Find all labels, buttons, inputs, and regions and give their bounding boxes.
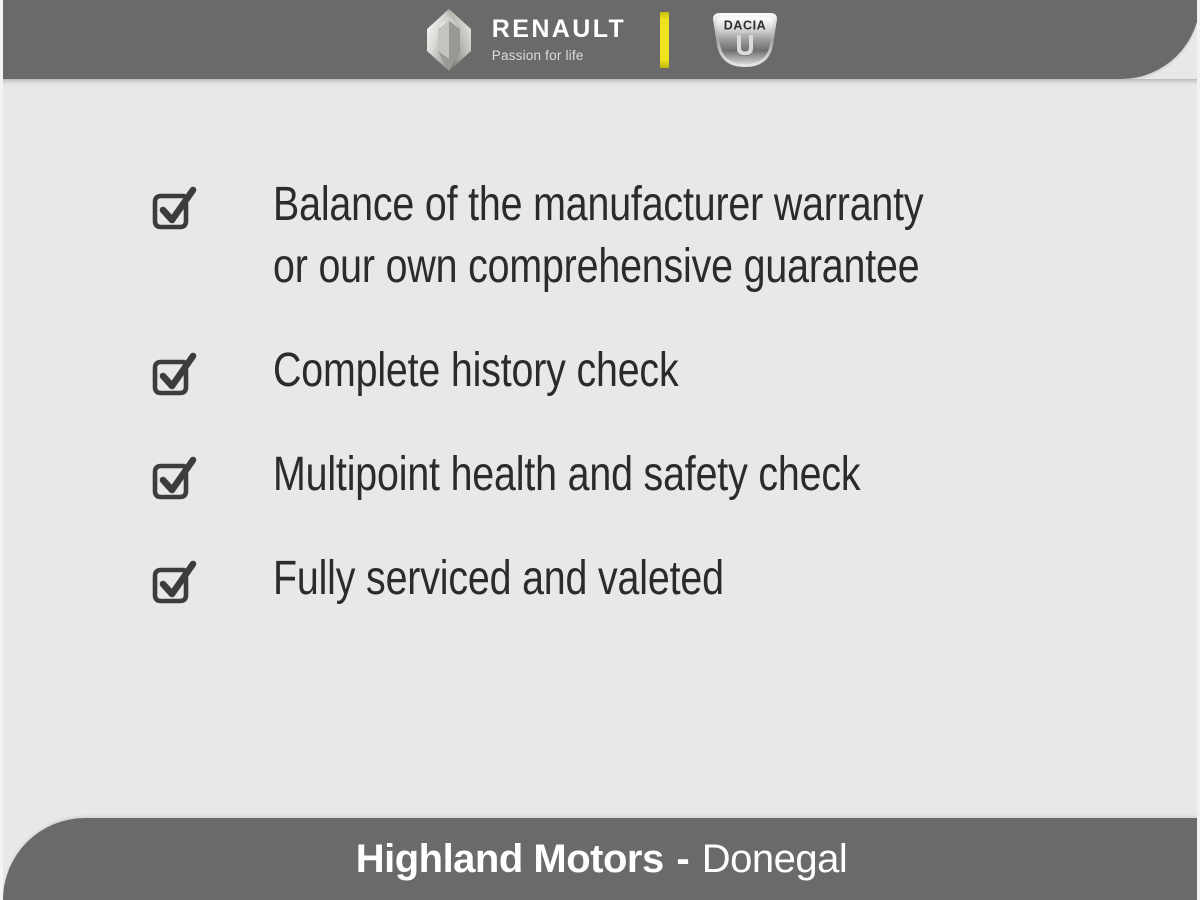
dealer-location: Donegal <box>702 837 848 881</box>
list-item: Multipoint health and safety check <box>3 444 1200 506</box>
header-underline <box>3 79 1200 86</box>
feature-list: Balance of the manufacturer warranty or … <box>3 86 1200 812</box>
dealer-name: Highland Motors <box>356 837 664 881</box>
promo-panel: RENAULT Passion for life <box>0 0 1200 900</box>
renault-brand-block: RENAULT Passion for life <box>420 7 626 73</box>
dacia-shield-icon: DACIA <box>707 9 783 71</box>
dacia-brand-block: DACIA <box>707 9 783 71</box>
list-item: Fully serviced and valeted <box>3 548 1200 610</box>
checked-checkbox-icon <box>148 452 200 504</box>
renault-diamond-icon <box>420 7 478 73</box>
renault-tagline: Passion for life <box>492 49 626 63</box>
dealer-footer-text: Highland Motors - Donegal <box>356 838 848 880</box>
checked-checkbox-icon <box>148 348 200 400</box>
list-item-label: Complete history check <box>273 340 678 402</box>
brand-header-content: RENAULT Passion for life <box>3 0 1200 79</box>
renault-wordmark: RENAULT Passion for life <box>492 17 626 63</box>
svg-text:DACIA: DACIA <box>724 18 767 32</box>
brand-header-bar: RENAULT Passion for life <box>3 0 1200 79</box>
renault-name: RENAULT <box>492 17 626 42</box>
list-item-label: Balance of the manufacturer warranty or … <box>273 174 923 298</box>
checked-checkbox-icon <box>148 182 200 234</box>
brand-divider <box>660 12 669 68</box>
dealer-separator: - <box>664 837 702 881</box>
list-item: Balance of the manufacturer warranty or … <box>3 174 1200 298</box>
list-item: Complete history check <box>3 340 1200 402</box>
checked-checkbox-icon <box>148 556 200 608</box>
list-item-label: Fully serviced and valeted <box>273 548 724 610</box>
list-item-label: Multipoint health and safety check <box>273 444 860 506</box>
dealer-footer-bar: Highland Motors - Donegal <box>3 818 1200 900</box>
